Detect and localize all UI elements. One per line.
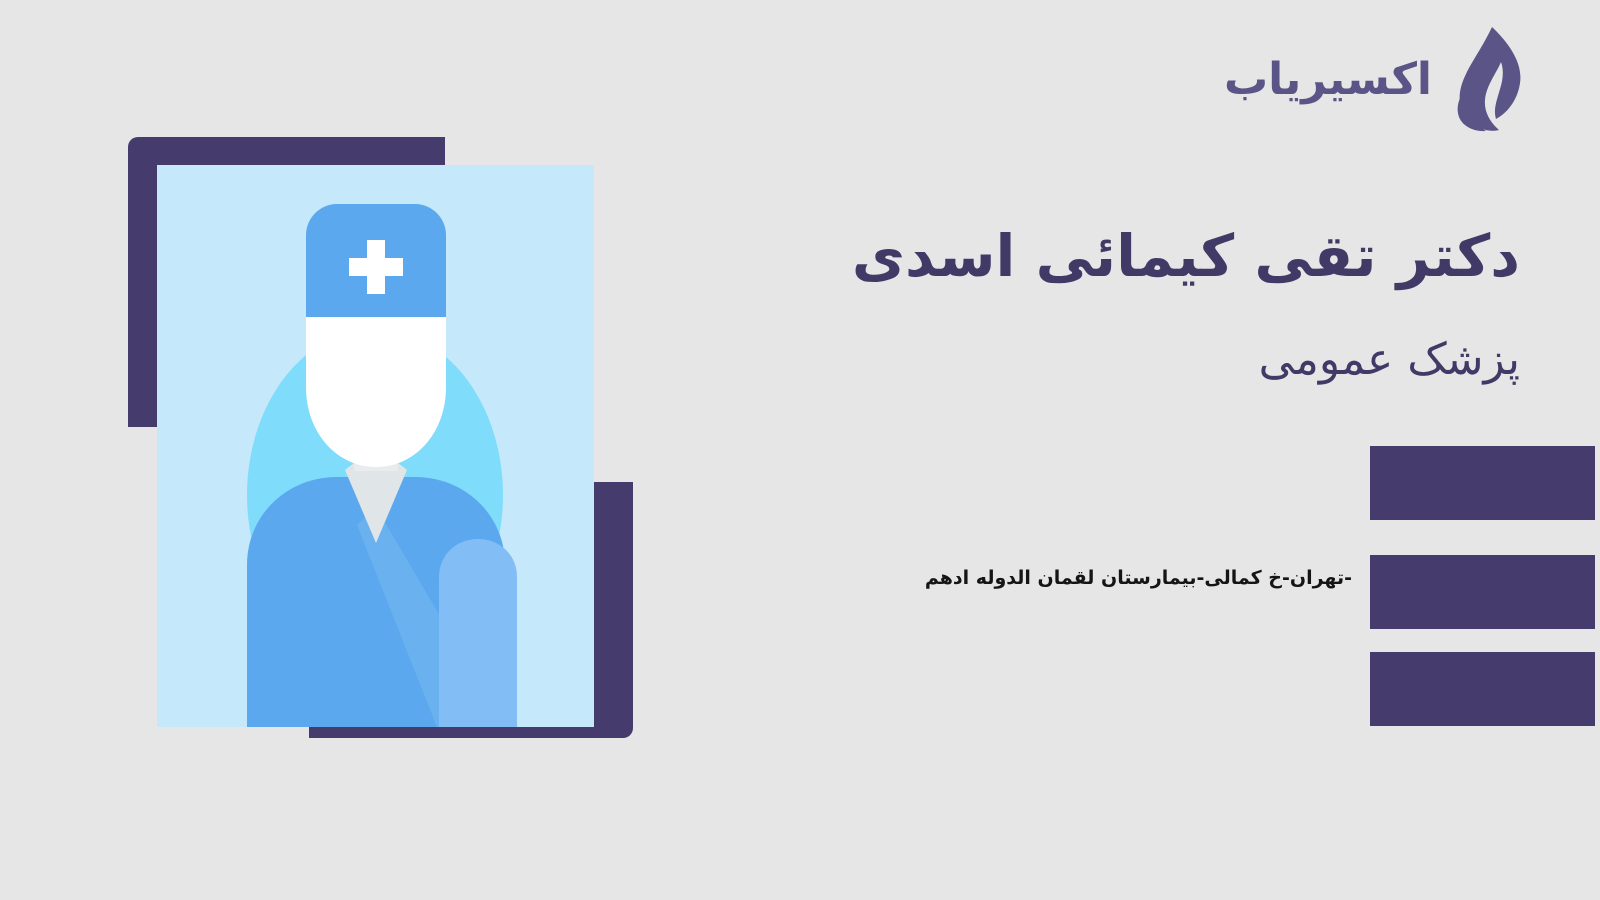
doctor-specialty: پزشک عمومی <box>680 332 1520 387</box>
doctor-profile-banner: اکسیریاب <box>0 0 1600 900</box>
doctor-name: دکتر تقی کیمائی اسدی <box>680 222 1520 290</box>
doctor-illustration <box>128 137 633 738</box>
decorative-bar-1 <box>1370 446 1595 520</box>
decorative-bar-2 <box>1370 555 1595 629</box>
doctor-avatar-icon <box>157 165 594 727</box>
brand-name: اکسیریاب <box>1224 58 1432 102</box>
decorative-bar-3 <box>1370 652 1595 726</box>
doctor-photo-card <box>157 165 594 727</box>
flame-droplet-icon <box>1446 26 1528 134</box>
doctor-address: -تهران-خ کمالی-بیمارستان لقمان الدوله اد… <box>652 565 1352 592</box>
brand-logo[interactable]: اکسیریاب <box>1224 26 1528 134</box>
